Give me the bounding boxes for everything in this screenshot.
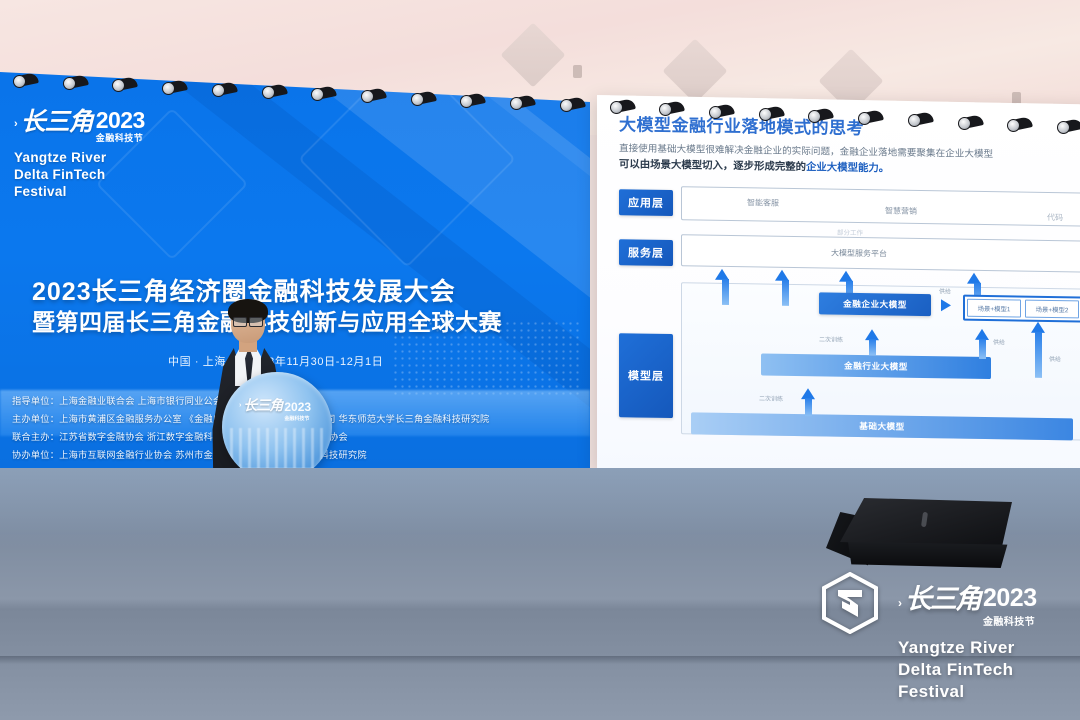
podium-logo-disc: › 长三角 2023 金融科技节 [222,372,332,482]
watermark-arrow-icon: › [898,586,902,610]
layer-tag-application: 应用层 [619,189,673,216]
conference-stage-photo: › 长三角 2023 金融科技节 Yangtze River Delta Fin… [0,0,1080,720]
arrow-stem [1035,332,1042,378]
scenario-box-1: 场景+模型1 [967,299,1021,318]
logo-arrow-icon: › [14,110,18,130]
layer-tag-service: 服务层 [619,239,673,266]
podium-year: 2023 [284,400,311,414]
arrow-stem [782,280,789,306]
watermark-cn-name: 长三角 [905,586,980,613]
watermark-en-line1: Yangtze River [898,637,1076,659]
podium-arrow-icon: › [239,398,241,409]
scenario-model-group: 场景+模型1 场景+模型2 [963,295,1080,323]
ceiling-panel [662,38,727,103]
slide-paragraph-2-emphasis: 企业大模型能力。 [806,163,889,175]
arrow-label-retrain-1: 二次训练 [819,334,843,343]
arrow-label-supply-2: 供给 [993,337,1005,346]
presentation-screen: 大模型金融行业落地模式的思考 直接使用基础大模型很难解决金融企业的实际问题，金融… [597,95,1080,480]
logo-en-line2: Delta FinTech [14,167,204,184]
ceiling-fixture-icon [573,65,582,78]
app-item-code: 代码 [1047,212,1063,223]
arrow-label-supply-3: 供给 [1049,354,1061,363]
stage-monitor-speaker [826,498,1020,580]
logo-en-line3: Festival [14,184,204,201]
headline-line-2: 暨第四届长三角金融科技创新与应用全球大赛 [32,308,572,338]
architecture-diagram: 应用层 智能客服 智慧营销 代码 部分工作 服务层 大模型服务平台 模型层 [619,185,1080,457]
arrow-stem [869,339,876,355]
glasses-icon [233,317,263,325]
arrow-stem [979,339,986,359]
layer-tag-model: 模型层 [619,333,673,418]
app-item-smart-marketing: 智慧营销 [885,205,917,217]
watermark-en-line3: Festival [898,681,1076,703]
base-model-box: 基础大模型 [691,412,1073,440]
scenario-box-2: 场景+模型2 [1025,300,1079,319]
logo-cn-subtitle: 金融科技节 [96,134,145,143]
logo-cn-name: 长三角 [21,110,93,135]
application-layer-box [681,186,1080,226]
hexagon-emblem-icon [820,572,880,634]
festival-logo: › 长三角 2023 金融科技节 Yangtze River Delta Fin… [14,110,204,201]
industry-model-box: 金融行业大模型 [761,353,991,379]
app-item-smart-service: 智能客服 [747,197,779,209]
watermark-cn-subtitle: 金融科技节 [983,613,1037,628]
speaker-cabinet-front [848,542,1014,568]
arrow-stem [722,279,729,305]
arrow-label-retrain-2: 二次训练 [759,393,783,402]
logo-en-line1: Yangtze River [14,150,204,167]
podium-cn-subtitle: 金融科技节 [284,417,311,422]
watermark-year: 2023 [983,584,1037,612]
arrow-stem [805,398,812,416]
watermark-en-line2: Delta FinTech [898,659,1076,681]
arrow-label-supply: 供给 [939,286,951,295]
app-note: 部分工作 [837,227,863,237]
enterprise-model-box: 金融企业大模型 [819,292,931,316]
podium-cn-name: 长三角 [243,398,282,412]
logo-year: 2023 [96,107,145,133]
slide-paragraph-2-pre: 可以由场景大模型切入，逐步形成完整的 [619,160,806,174]
watermark-logo: › 长三角 2023 金融科技节 Yangtze River Delta Fin… [820,572,1070,712]
event-headline: 2023长三角经济圈金融科技发展大会 暨第四届长三角金融科技创新与应用全球大赛 … [32,277,572,369]
arrow-right-icon [941,299,951,311]
ceiling-panel [500,22,565,87]
headline-line-1: 2023长三角经济圈金融科技发展大会 [32,277,572,308]
service-platform-label: 大模型服务平台 [831,248,887,260]
